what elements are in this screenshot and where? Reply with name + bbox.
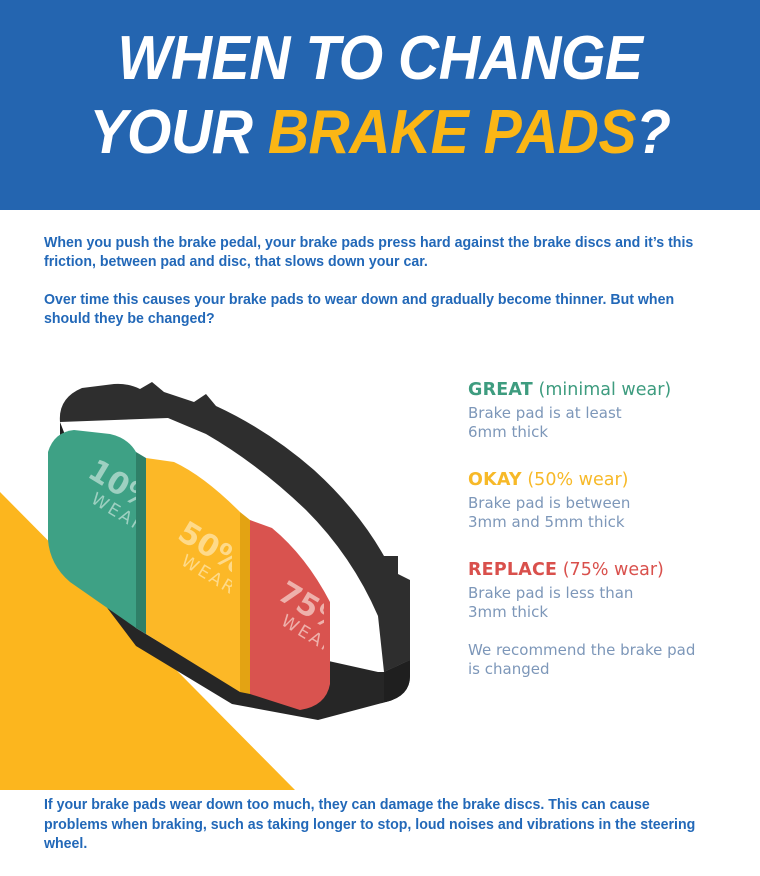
page-title-line-2-tail: ? xyxy=(636,98,670,167)
intro-paragraph-2: Over time this causes your brake pads to… xyxy=(44,291,694,329)
outro-paragraph: If your brake pads wear down too much, t… xyxy=(44,796,704,855)
legend-item-okay-body: Brake pad is between 3mm and 5mm thick xyxy=(468,494,748,532)
wear-segment-great-face xyxy=(48,430,136,628)
legend-item-replace-note-line-2: is changed xyxy=(468,660,748,679)
legend-item-replace-heading: REPLACE (75% wear) xyxy=(468,558,748,582)
legend-item-great-qualifier: (minimal wear) xyxy=(539,380,672,400)
brake-pad-illustration: 10% WEAR 50% WEAR 75% WEAR xyxy=(18,360,478,720)
legend-item-replace-body-line-1: Brake pad is less than xyxy=(468,584,748,603)
legend-item-okay-keyword: OKAY xyxy=(468,470,522,490)
page-title-line-2-prefix: YOUR xyxy=(89,98,267,167)
page-title-line-2-accent: BRAKE PADS xyxy=(268,98,636,167)
page-title-line-1: WHEN TO CHANGE xyxy=(30,22,729,96)
legend-item-great-body: Brake pad is at least 6mm thick xyxy=(468,404,748,442)
legend-item-great-body-line-1: Brake pad is at least xyxy=(468,404,748,423)
legend-item-okay-body-line-1: Brake pad is between xyxy=(468,494,748,513)
legend-item-okay: OKAY (50% wear) Brake pad is between 3mm… xyxy=(468,468,748,532)
legend-item-replace-body-line-2: 3mm thick xyxy=(468,603,748,622)
header-banner: WHEN TO CHANGE YOUR BRAKE PADS? xyxy=(0,0,760,210)
legend-item-great: GREAT (minimal wear) Brake pad is at lea… xyxy=(468,378,748,442)
wear-segment-okay-side xyxy=(240,512,250,694)
page-title-line-2: YOUR BRAKE PADS? xyxy=(30,96,729,170)
legend-item-okay-heading: OKAY (50% wear) xyxy=(468,468,748,492)
legend-item-great-keyword: GREAT xyxy=(468,380,533,400)
wear-legend: GREAT (minimal wear) Brake pad is at lea… xyxy=(468,378,748,679)
legend-item-replace-note: We recommend the brake pad is changed xyxy=(468,641,748,679)
wear-segment-great: 10% WEAR xyxy=(48,430,161,634)
intro-copy: When you push the brake pedal, your brak… xyxy=(44,234,694,329)
legend-item-great-heading: GREAT (minimal wear) xyxy=(468,378,748,402)
legend-item-replace-qualifier: (75% wear) xyxy=(563,560,664,580)
outro-copy: If your brake pads wear down too much, t… xyxy=(44,796,704,855)
legend-item-replace: REPLACE (75% wear) Brake pad is less tha… xyxy=(468,558,748,679)
legend-item-okay-qualifier: (50% wear) xyxy=(527,470,628,490)
page-title: WHEN TO CHANGE YOUR BRAKE PADS? xyxy=(30,22,729,170)
legend-item-great-body-line-2: 6mm thick xyxy=(468,423,748,442)
legend-item-replace-note-line-1: We recommend the brake pad xyxy=(468,641,748,660)
intro-paragraph-1: When you push the brake pedal, your brak… xyxy=(44,234,694,272)
legend-item-replace-keyword: REPLACE xyxy=(468,560,557,580)
legend-item-okay-body-line-2: 3mm and 5mm thick xyxy=(468,513,748,532)
wear-segment-great-side xyxy=(136,452,146,634)
legend-item-replace-body: Brake pad is less than 3mm thick xyxy=(468,584,748,622)
